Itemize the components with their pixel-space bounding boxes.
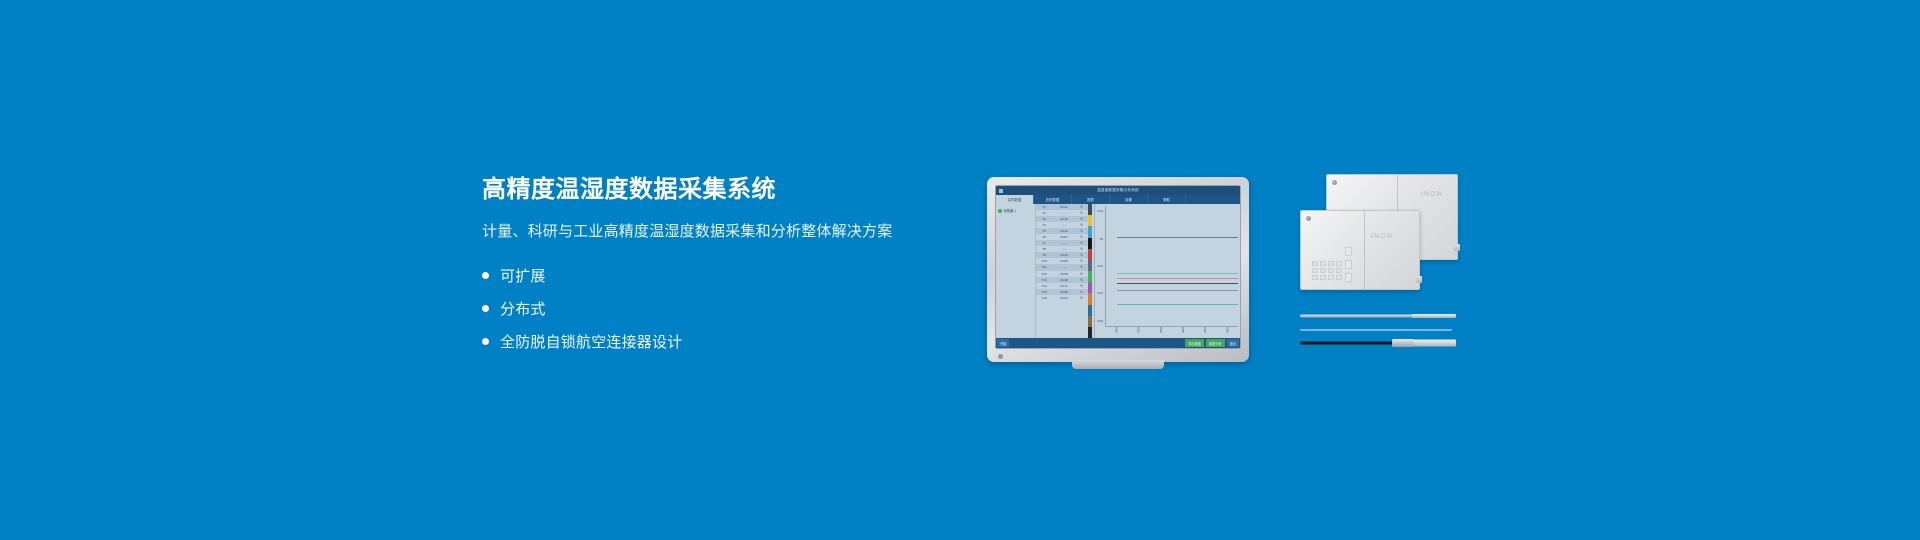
- list-item: 全防脱自锁航空连接器设计: [482, 326, 1002, 356]
- chart-series-line: [1117, 273, 1238, 274]
- channel-value: 24.12: [1052, 229, 1076, 233]
- connector-icon: [1416, 276, 1422, 283]
- monitor-bezel: 温湿度数据采集分析系统 实时数据 历史数据 报表 设置 帮助 采: [987, 177, 1249, 362]
- channel-value: 23.98: [1052, 290, 1076, 294]
- acquisition-modules: INON INON: [1300, 174, 1460, 292]
- monitor-stand: [1072, 360, 1164, 369]
- channel-unit: ℃: [1076, 272, 1087, 276]
- software-body: 采集器-1 T123.41℃T2---℃T324.19℃T4---℃T524.1…: [996, 204, 1240, 338]
- channel-value: ---: [1052, 211, 1076, 215]
- channel-value: 24.36: [1052, 253, 1076, 257]
- channel-value: ---: [1052, 247, 1076, 251]
- panel-pc-monitor: 温湿度数据采集分析系统 实时数据 历史数据 报表 设置 帮助 采: [987, 177, 1249, 362]
- product-banner: 高精度温湿度数据采集系统 计量、科研与工业高精度温湿度数据采集和分析整体解决方案…: [0, 0, 1920, 540]
- chart-x-axis: 10:2010:2510:3010:3510:4010:45: [1105, 327, 1238, 337]
- channel-value: ---: [1052, 223, 1076, 227]
- channel-unit: ℃: [1076, 259, 1087, 263]
- channel-unit: ℃: [1076, 211, 1087, 215]
- channel-value: 24.19: [1052, 217, 1076, 221]
- channel-table: T123.41℃T2---℃T324.19℃T4---℃T524.12℃T623…: [1036, 204, 1088, 338]
- channel-unit: ℃: [1076, 241, 1087, 245]
- chart-series-line: [1117, 278, 1238, 279]
- bullet-dot-icon: [482, 305, 489, 312]
- tab-settings[interactable]: 设置: [1110, 195, 1148, 204]
- chart-series-line: [1117, 304, 1238, 305]
- channel-name: T13: [1036, 278, 1052, 282]
- software-titlebar: 温湿度数据采集分析系统: [996, 186, 1240, 195]
- bullet-dot-icon: [482, 338, 489, 345]
- chart-y-tick: 24: [1100, 237, 1103, 241]
- chart-x-tick: 10:20: [1115, 327, 1118, 337]
- channel-name: T9: [1036, 253, 1052, 257]
- legend-color-swatch: [1088, 282, 1092, 293]
- bullet-dot-icon: [482, 272, 489, 279]
- channel-name: T2: [1036, 211, 1052, 215]
- acquisition-software: 温湿度数据采集分析系统 实时数据 历史数据 报表 设置 帮助 采: [996, 186, 1240, 348]
- channel-unit: ℃: [1076, 235, 1087, 239]
- chart-y-axis: 24.42423.623.222.8: [1095, 204, 1104, 328]
- probe-stainless: [1300, 310, 1455, 322]
- channel-unit: ℃: [1076, 205, 1087, 209]
- channel-color-legend: [1088, 204, 1092, 338]
- exit-button[interactable]: 退出: [1227, 339, 1239, 347]
- start-button[interactable]: 开始: [997, 339, 1009, 347]
- list-item: 可扩展: [482, 260, 1002, 290]
- status-led-icon: [998, 209, 1002, 213]
- tab-history-data[interactable]: 历史数据: [1034, 195, 1072, 204]
- feature-label: 分布式: [500, 298, 546, 319]
- channel-value: 23.41: [1052, 205, 1076, 209]
- probe-tip: [1412, 314, 1456, 318]
- chart-x-tick: 10:45: [1225, 327, 1228, 337]
- device-tree-sidebar: 采集器-1: [996, 204, 1036, 338]
- software-title: 温湿度数据采集分析系统: [996, 188, 1240, 193]
- channel-name: T12: [1036, 272, 1052, 276]
- analyze-data-button[interactable]: 数据分析: [1206, 339, 1225, 347]
- legend-color-swatch: [1088, 260, 1092, 271]
- channel-unit: ℃: [1076, 296, 1087, 300]
- panel-seam: [1364, 211, 1365, 289]
- channel-name: T14: [1036, 284, 1052, 288]
- page-subtitle: 计量、科研与工业高精度温湿度数据采集和分析整体解决方案: [482, 222, 1002, 242]
- chart-series-line: [1117, 290, 1238, 291]
- chart-x-tick: 10:35: [1181, 327, 1184, 337]
- legend-color-swatch: [1088, 316, 1092, 327]
- aviation-connector-icon: [1345, 247, 1352, 282]
- tab-realtime-data[interactable]: 实时数据: [996, 195, 1034, 204]
- channel-name: T7: [1036, 241, 1052, 245]
- legend-color-swatch: [1088, 204, 1092, 215]
- export-data-button[interactable]: 导出数据: [1185, 339, 1204, 347]
- chart-x-tick: 10:25: [1137, 327, 1140, 337]
- chart-y-tick: 23.6: [1097, 264, 1103, 268]
- chart-y-tick: 24.4: [1097, 209, 1103, 213]
- software-tabbar: 实时数据 历史数据 报表 设置 帮助: [996, 195, 1240, 204]
- channel-value: ---: [1052, 265, 1076, 269]
- channel-name: T4: [1036, 223, 1052, 227]
- chart-x-tick: 10:30: [1159, 327, 1162, 337]
- legend-color-swatch: [1088, 293, 1092, 304]
- channel-unit: ℃: [1076, 247, 1087, 251]
- probe-blue-cable: [1300, 327, 1455, 333]
- channel-name: T8: [1036, 247, 1052, 251]
- channel-unit: ℃: [1076, 253, 1087, 257]
- connector-icon: [1454, 244, 1460, 251]
- tab-report[interactable]: 报表: [1072, 195, 1110, 204]
- channel-unit: ℃: [1076, 217, 1087, 221]
- tab-help[interactable]: 帮助: [1148, 195, 1186, 204]
- channel-name: T3: [1036, 217, 1052, 221]
- software-footer: 开始 导出数据 数据分析 退出: [996, 338, 1240, 348]
- legend-color-swatch: [1088, 305, 1092, 316]
- channel-value: 23.94: [1052, 296, 1076, 300]
- channel-value: ---: [1052, 241, 1076, 245]
- screw-icon: [1332, 180, 1337, 185]
- chart-series-line: [1117, 283, 1238, 284]
- brand-label: INON: [1421, 191, 1443, 198]
- channel-value: 24.11: [1052, 284, 1076, 288]
- channel-name: T15: [1036, 290, 1052, 294]
- page-title: 高精度温湿度数据采集系统: [482, 176, 1002, 205]
- channel-unit: ℃: [1076, 229, 1087, 233]
- channel-name: T11: [1036, 265, 1052, 269]
- power-indicator-icon: [998, 354, 1003, 359]
- sidebar-item-device[interactable]: 采集器-1: [998, 208, 1033, 213]
- channel-name: T5: [1036, 229, 1052, 233]
- channel-name: T6: [1036, 235, 1052, 239]
- module-front: INON: [1300, 210, 1420, 290]
- port-grid-icon: [1312, 261, 1342, 280]
- chart-series-line: [1117, 237, 1238, 238]
- probe-shaft: [1300, 315, 1420, 318]
- channel-unit: ℃: [1076, 278, 1087, 282]
- legend-color-swatch: [1088, 271, 1092, 282]
- probe-cable: [1300, 342, 1398, 345]
- legend-color-swatch: [1088, 327, 1092, 338]
- channel-name: T1: [1036, 205, 1052, 209]
- channel-name: T16: [1036, 296, 1052, 300]
- feature-list: 可扩展 分布式 全防脱自锁航空连接器设计: [482, 260, 1002, 356]
- channel-value: 24.06: [1052, 259, 1076, 263]
- chart-plot-area: [1105, 206, 1238, 327]
- channel-unit: ℃: [1076, 265, 1087, 269]
- channel-unit: ℃: [1076, 290, 1087, 294]
- channel-unit: ℃: [1076, 284, 1087, 288]
- table-row[interactable]: T1623.94℃: [1036, 295, 1088, 301]
- chart-x-tick: 10:40: [1203, 327, 1206, 337]
- channel-name: T10: [1036, 259, 1052, 263]
- probe-ferrule: [1392, 339, 1414, 347]
- feature-label: 全防脱自锁航空连接器设计: [500, 331, 682, 352]
- feature-label: 可扩展: [500, 265, 546, 286]
- legend-color-swatch: [1088, 238, 1092, 249]
- legend-color-swatch: [1088, 215, 1092, 226]
- brand-label: INON: [1371, 233, 1393, 240]
- list-item: 分布式: [482, 293, 1002, 323]
- probe-black-connector: [1300, 336, 1455, 350]
- channel-unit: ℃: [1076, 223, 1087, 227]
- device-label: 采集器-1: [1004, 208, 1016, 213]
- monitor-screen: 温湿度数据采集分析系统 实时数据 历史数据 报表 设置 帮助 采: [995, 185, 1241, 349]
- screw-icon: [1306, 216, 1311, 221]
- chart-y-tick: 23.2: [1097, 291, 1103, 295]
- temperature-probes: [1300, 310, 1460, 354]
- chart-y-tick: 22.8: [1097, 319, 1103, 323]
- banner-copy: 高精度温湿度数据采集系统 计量、科研与工业高精度温湿度数据采集和分析整体解决方案…: [482, 176, 1002, 359]
- probe-cable: [1300, 329, 1452, 331]
- channel-value: 24.28: [1052, 278, 1076, 282]
- channel-value: 23.87: [1052, 235, 1076, 239]
- legend-color-swatch: [1088, 249, 1092, 260]
- channel-value: 23.90: [1052, 272, 1076, 276]
- legend-color-swatch: [1088, 226, 1092, 237]
- trend-chart: 24.42423.623.222.8 10:2010:2510:3010:351…: [1094, 204, 1240, 338]
